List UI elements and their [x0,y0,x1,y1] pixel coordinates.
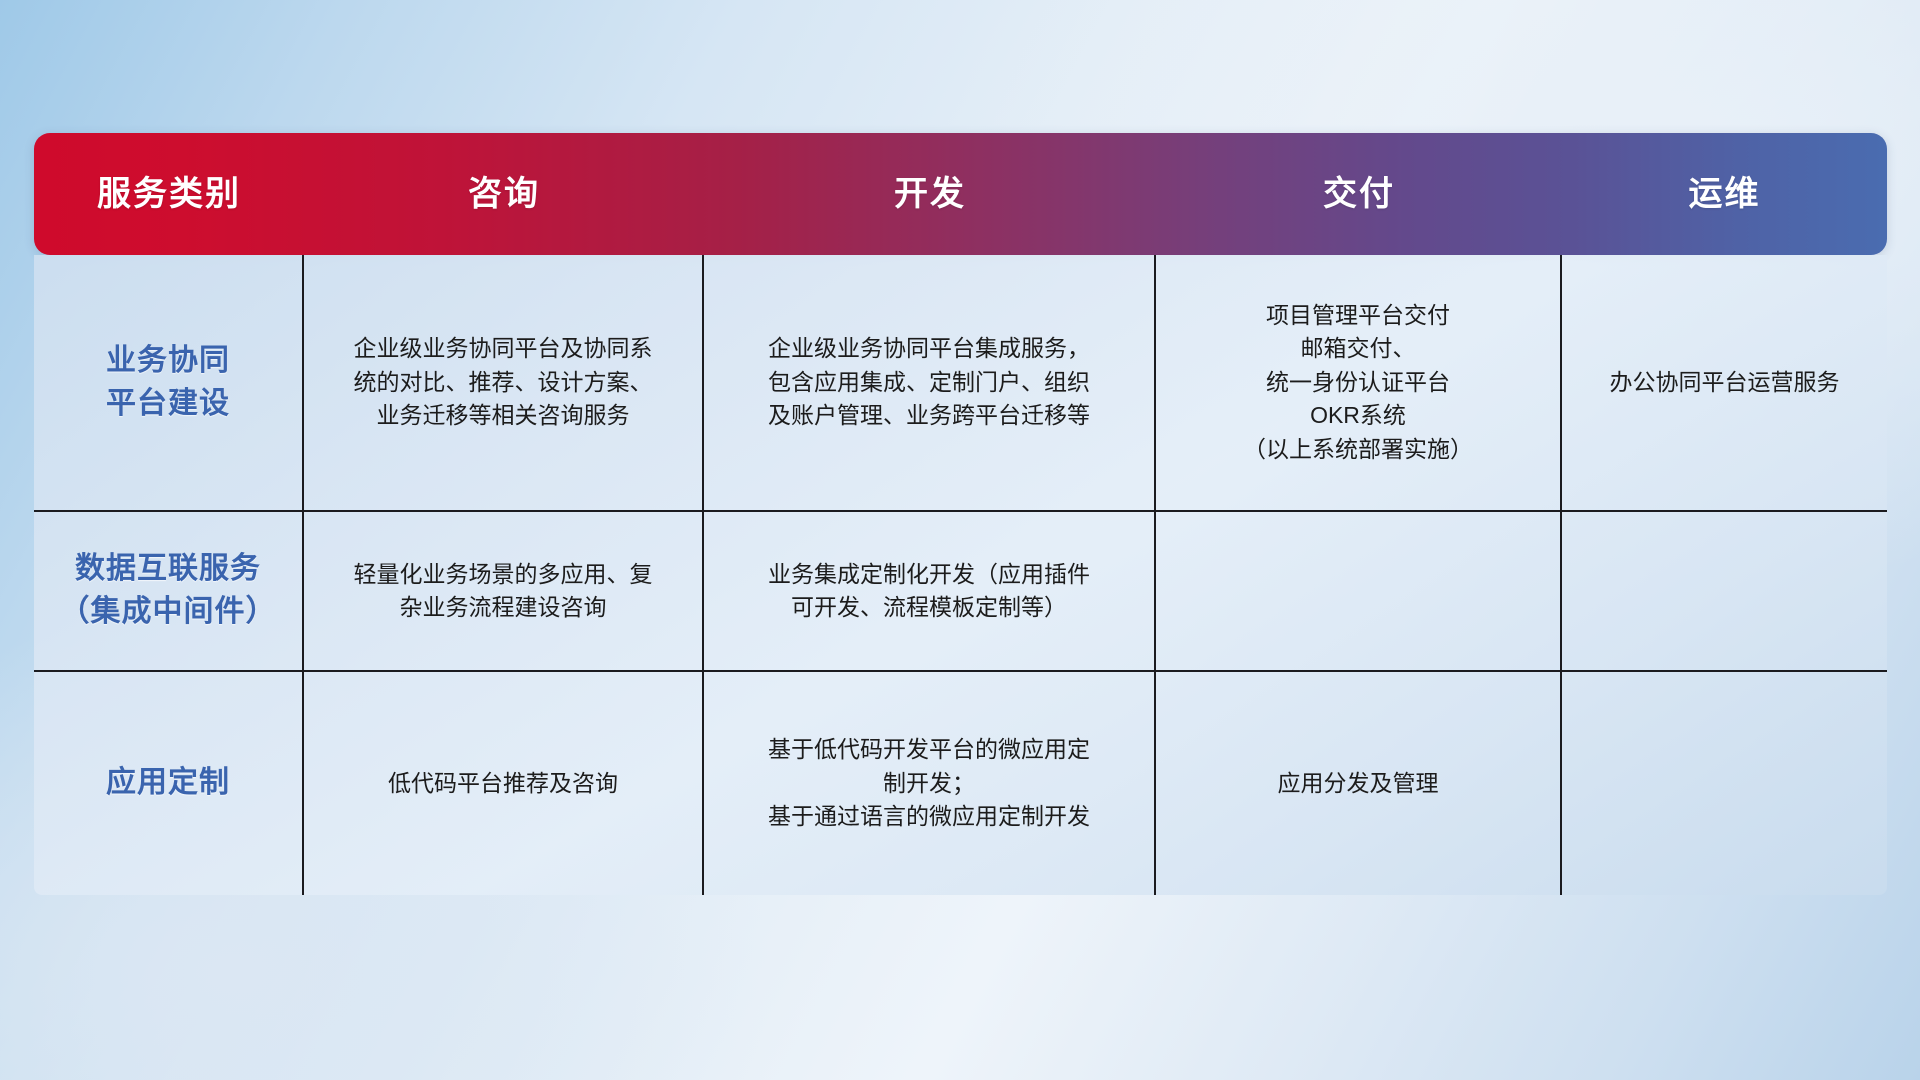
column-header-category: 服务类别 [34,133,304,255]
row-label-app-customization: 应用定制 [34,672,304,895]
cell-delivery-row-3: 应用分发及管理 [1156,672,1562,895]
cell-operations-row-1: 办公协同平台运营服务 [1562,255,1887,510]
row-label-data-integration: 数据互联服务 （集成中间件） [34,512,304,670]
cell-development-row-3: 基于低代码开发平台的微应用定 制开发； 基于通过语言的微应用定制开发 [704,672,1156,895]
column-header-development: 开发 [704,133,1156,255]
table-row: 业务协同 平台建设 企业级业务协同平台及协同系 统的对比、推荐、设计方案、 业务… [34,255,1887,512]
table-row: 数据互联服务 （集成中间件） 轻量化业务场景的多应用、复 杂业务流程建设咨询 业… [34,512,1887,672]
table-body: 业务协同 平台建设 企业级业务协同平台及协同系 统的对比、推荐、设计方案、 业务… [34,255,1887,895]
cell-delivery-row-1: 项目管理平台交付 邮箱交付、 统一身份认证平台 OKR系统 （以上系统部署实施） [1156,255,1562,510]
cell-operations-row-3 [1562,672,1887,895]
cell-operations-row-2 [1562,512,1887,670]
cell-consulting-row-3: 低代码平台推荐及咨询 [304,672,704,895]
cell-consulting-row-1: 企业级业务协同平台及协同系 统的对比、推荐、设计方案、 业务迁移等相关咨询服务 [304,255,704,510]
column-header-operations: 运维 [1562,133,1887,255]
cell-consulting-row-2: 轻量化业务场景的多应用、复 杂业务流程建设咨询 [304,512,704,670]
row-label-business-collaboration: 业务协同 平台建设 [34,255,304,510]
table-row: 应用定制 低代码平台推荐及咨询 基于低代码开发平台的微应用定 制开发； 基于通过… [34,672,1887,895]
slide-canvas: 服务类别 咨询 开发 交付 运维 业务协同 平台建设 企业级业务协同平台及协同系… [0,0,1920,1080]
service-matrix-table: 服务类别 咨询 开发 交付 运维 业务协同 平台建设 企业级业务协同平台及协同系… [34,133,1887,895]
column-header-consulting: 咨询 [304,133,704,255]
cell-delivery-row-2 [1156,512,1562,670]
column-header-delivery: 交付 [1156,133,1562,255]
table-header-row: 服务类别 咨询 开发 交付 运维 [34,133,1887,255]
cell-development-row-2: 业务集成定制化开发（应用插件 可开发、流程模板定制等） [704,512,1156,670]
cell-development-row-1: 企业级业务协同平台集成服务， 包含应用集成、定制门户、组织 及账户管理、业务跨平… [704,255,1156,510]
